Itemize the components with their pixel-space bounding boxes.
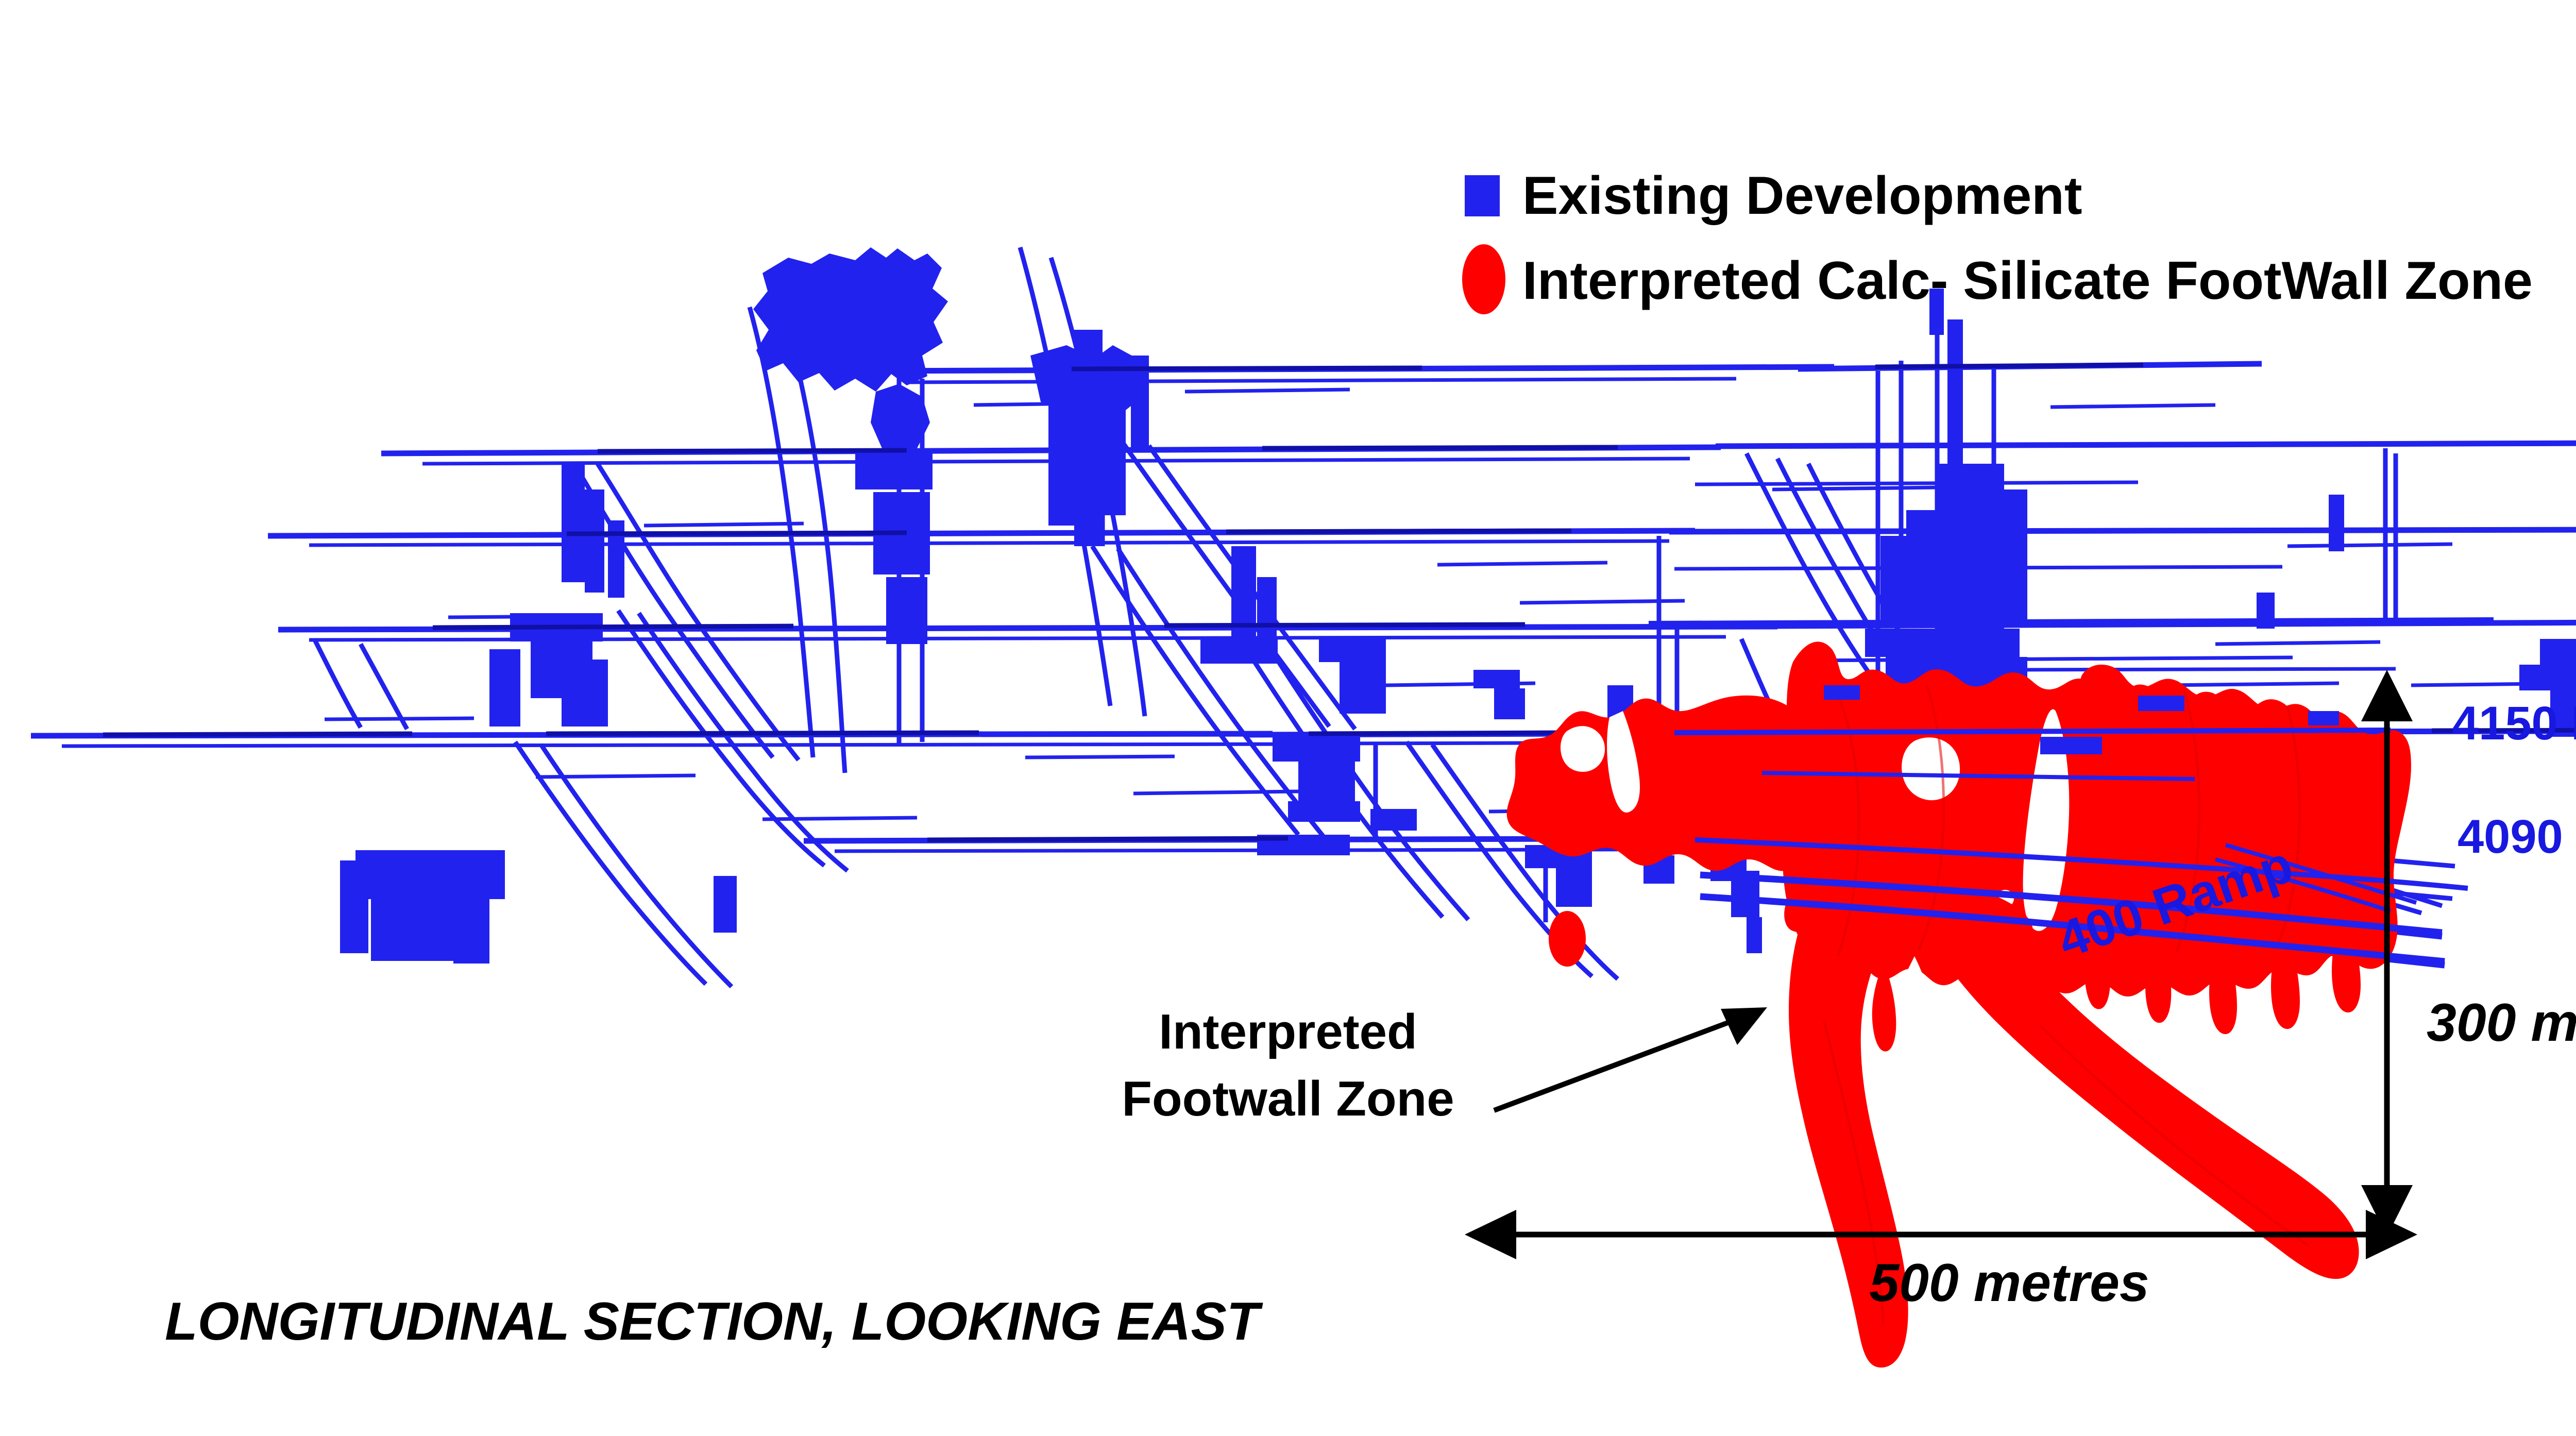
longitudinal-section-figure: 4150 Level 4090 Level 400 Ramp Interpret… bbox=[0, 0, 2576, 1436]
level-label-4090: 4090 Level bbox=[2458, 810, 2576, 863]
legend-label-footwall: Interpreted Calc- Silicate FootWall Zone bbox=[1522, 251, 2533, 311]
footwall-isolated-blob bbox=[1549, 911, 1586, 967]
footwall-hole-upper-left bbox=[1561, 726, 1605, 772]
legend-label-development: Existing Development bbox=[1522, 166, 2082, 226]
level-label-4150: 4150 Level bbox=[2452, 697, 2576, 750]
footwall-hole-center bbox=[1902, 737, 1960, 800]
legend-swatch-footwall-icon bbox=[1462, 244, 1505, 314]
footwall-callout-line1: Interpreted bbox=[1159, 1004, 1417, 1059]
legend-swatch-development-icon bbox=[1465, 175, 1500, 216]
section-caption: LONGITUDINAL SECTION, LOOKING EAST bbox=[165, 1292, 1263, 1351]
footwall-callout-line2: Footwall Zone bbox=[1122, 1071, 1454, 1126]
vertical-scale-label: 300 metres bbox=[2427, 993, 2576, 1053]
horizontal-scale-label: 500 metres bbox=[1869, 1253, 2149, 1313]
figure-canvas: 4150 Level 4090 Level 400 Ramp Interpret… bbox=[0, 0, 2576, 1436]
